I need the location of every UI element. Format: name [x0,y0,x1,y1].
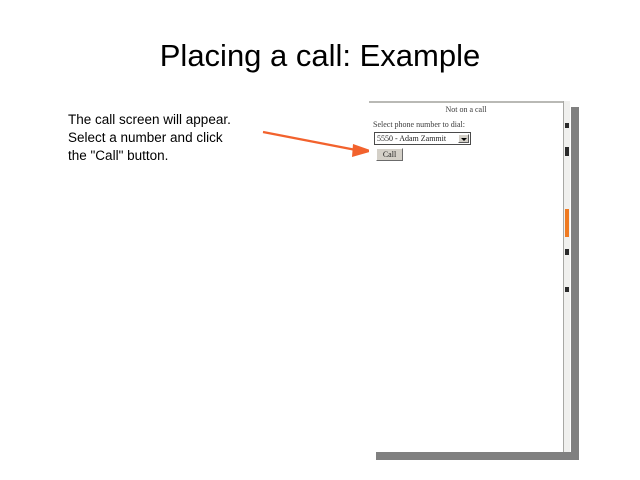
dial-label: Select phone number to dial: [373,120,465,129]
chevron-down-icon [461,138,467,141]
body-text-line: Select a number and click [68,129,278,147]
scrollbar-mark [565,287,569,292]
phone-number-select[interactable]: 5550 - Adam Zammit [374,132,471,145]
select-dropdown-button[interactable] [458,134,469,143]
slide-canvas: Placing a call: Example The call screen … [0,0,640,480]
scrollbar-mark [565,249,569,255]
body-text-block: The call screen will appear. Select a nu… [68,111,278,165]
scrollbar-mark [565,123,569,128]
call-button[interactable]: Call [376,148,403,161]
page-title: Placing a call: Example [0,38,640,74]
panel-shadow-bottom [376,452,579,460]
body-text-line: the "Call" button. [68,147,278,165]
body-text-line: The call screen will appear. [68,111,278,129]
call-status-text: Not on a call [369,105,563,114]
panel-vertical-scrollbar[interactable] [563,101,570,453]
scrollbar-thumb[interactable] [565,209,569,237]
panel-shadow-right [571,107,579,460]
scrollbar-mark [565,147,569,156]
embedded-screenshot-panel: Not on a call Select phone number to dia… [369,100,570,453]
phone-number-select-value: 5550 - Adam Zammit [377,134,446,144]
call-screen-content: Not on a call Select phone number to dia… [369,103,563,453]
